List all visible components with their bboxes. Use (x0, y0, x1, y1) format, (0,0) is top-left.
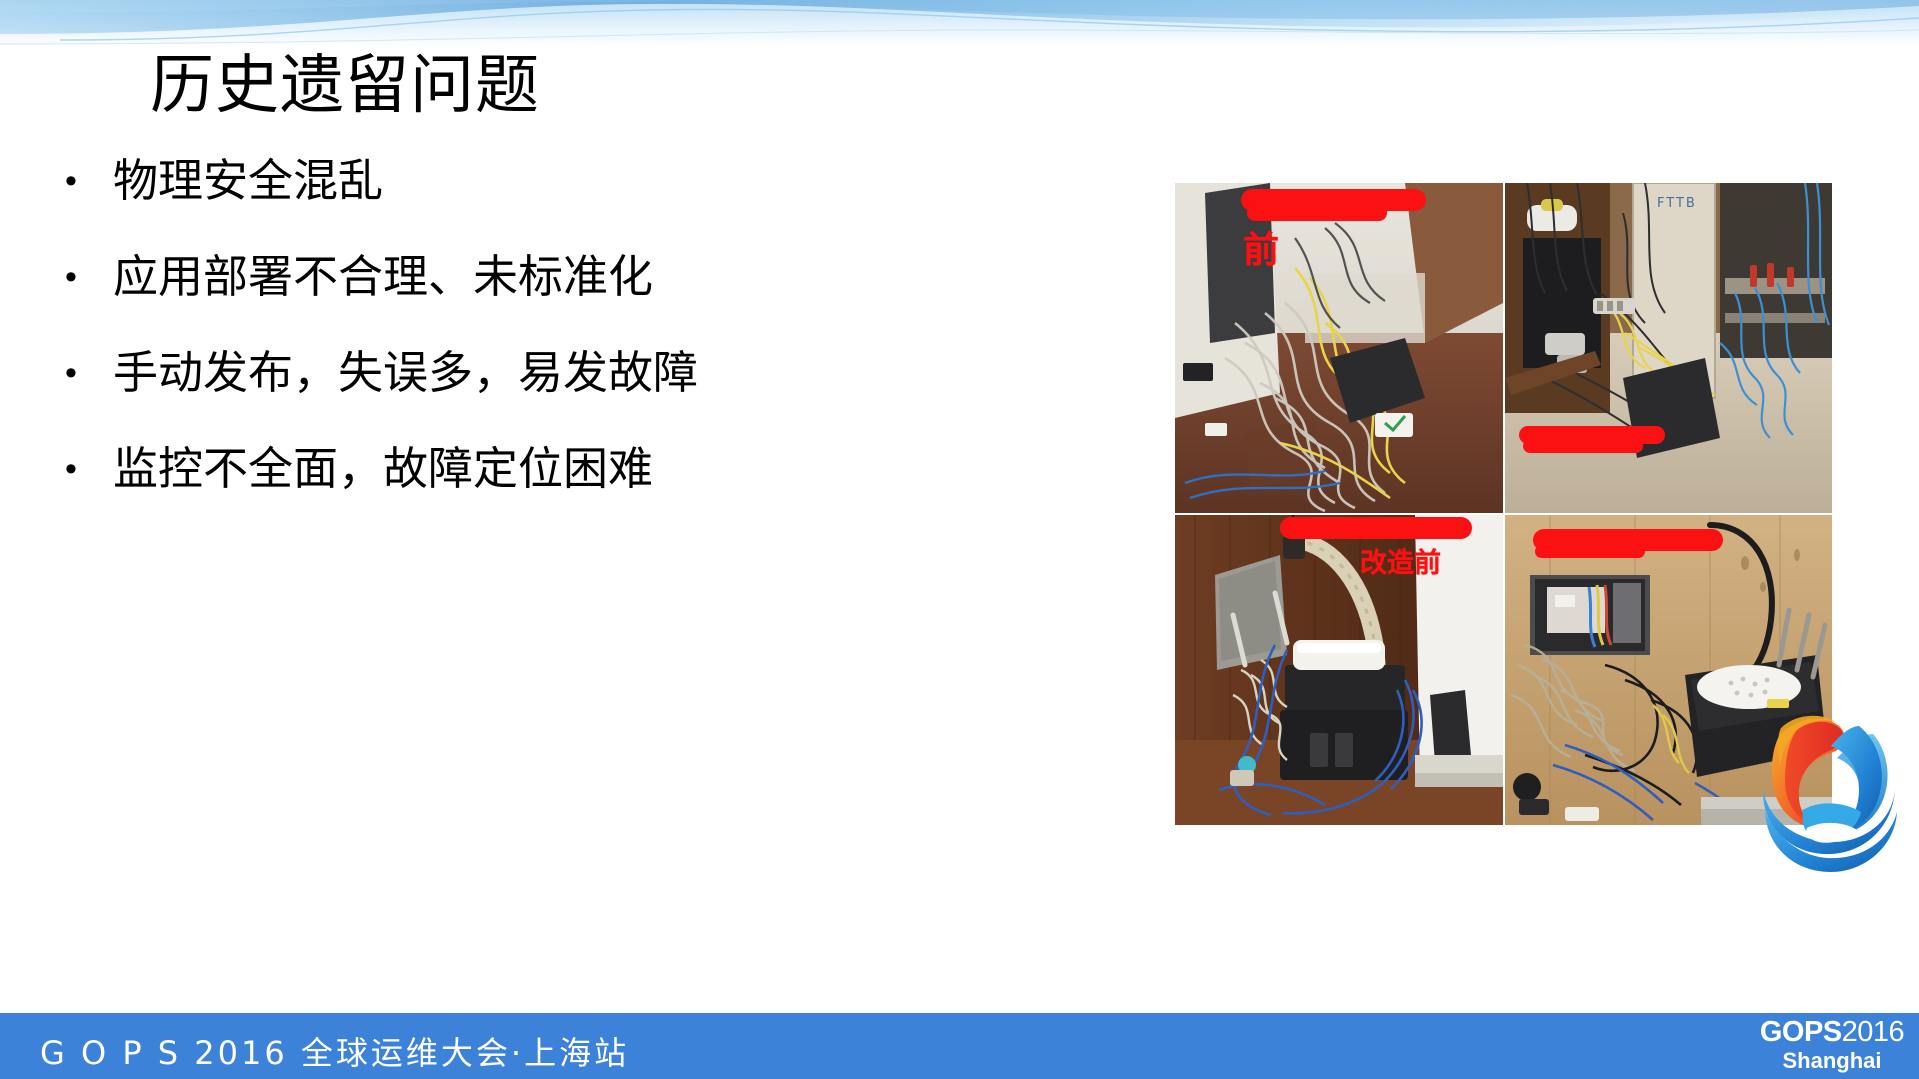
svg-text:FTTB: FTTB (1657, 196, 1697, 211)
bullet-text: 手动发布，失误多，易发故障 (113, 340, 698, 406)
gops-logo-emblem (1745, 700, 1905, 880)
photo-tangled-cables-floor: 前 (1175, 183, 1503, 513)
photo-collage: 前 FTTB (1175, 183, 1830, 823)
bullet-marker-icon: • (55, 340, 113, 406)
list-item: • 监控不全面，故障定位困难 (55, 436, 1115, 532)
photo-router-stack-corner: 改造前 (1175, 515, 1503, 825)
logo-year-text: 2016 (1842, 1016, 1905, 1048)
header-decoration-banner (0, 0, 1919, 46)
bullet-text: 物理安全混乱 (113, 148, 383, 214)
bullet-text: 监控不全面，故障定位困难 (113, 436, 653, 502)
redaction-bar (1280, 517, 1472, 539)
bullet-list: • 物理安全混乱 • 应用部署不合理、未标准化 • 手动发布，失误多，易发故障 … (55, 148, 1115, 532)
bullet-marker-icon: • (55, 436, 113, 502)
bullet-marker-icon: • (55, 148, 113, 214)
photo-annotation: 改造前 (1360, 541, 1441, 580)
photo-ftt-cabinet-cables: FTTB (1505, 183, 1832, 513)
logo-brand-text: GOPS (1760, 1016, 1842, 1048)
list-item: • 物理安全混乱 (55, 148, 1115, 244)
list-item: • 应用部署不合理、未标准化 (55, 244, 1115, 340)
list-item: • 手动发布，失误多，易发故障 (55, 340, 1115, 436)
logo-wordmark: GOPS2016 Shanghai (1757, 1018, 1907, 1072)
photo-annotation: 前 (1243, 221, 1279, 273)
redaction-bar (1523, 439, 1643, 453)
logo-brand-year: GOPS2016 (1757, 1018, 1907, 1047)
bullet-marker-icon: • (55, 244, 113, 310)
logo-city-text: Shanghai (1757, 1050, 1907, 1072)
redaction-bar (1535, 545, 1645, 558)
slide-title: 历史遗留问题 (150, 54, 540, 118)
redaction-bar (1247, 205, 1387, 221)
bullet-text: 应用部署不合理、未标准化 (113, 244, 653, 310)
footer-conference-title: G O P S 2016 全球运维大会·上海站 (40, 1028, 629, 1074)
